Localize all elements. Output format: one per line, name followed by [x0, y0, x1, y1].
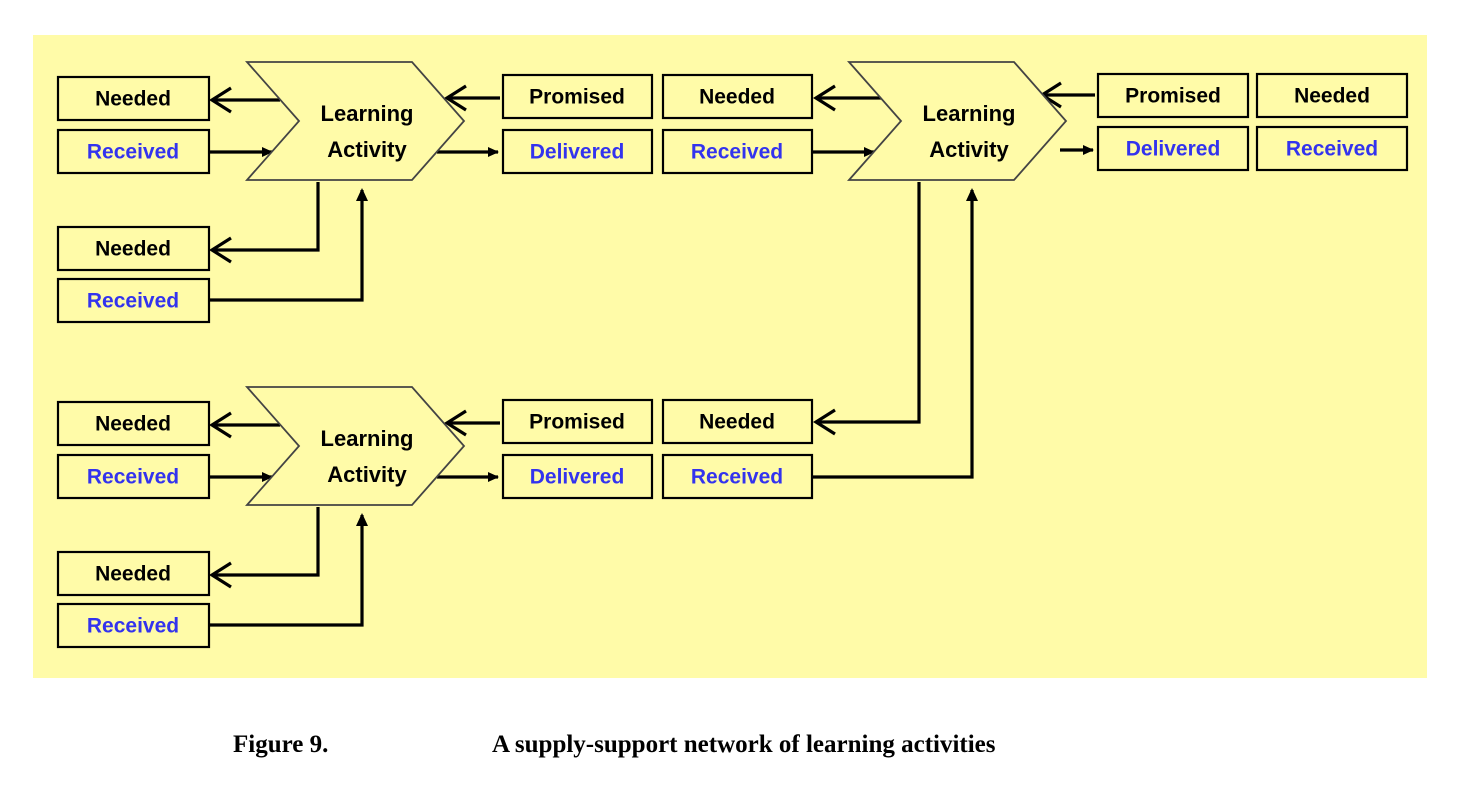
figure-caption-title: A supply-support network of learning act…	[492, 731, 996, 758]
state-box-delivered-2[interactable]: Delivered	[1098, 127, 1248, 170]
figure-container: Learning Activity Needed Received Needed…	[0, 0, 1458, 794]
state-box-needed-7[interactable]: Needed	[663, 400, 812, 443]
state-box-label: Delivered	[530, 466, 625, 489]
state-box-delivered-1[interactable]: Delivered	[503, 130, 652, 173]
learning-activity-label-line1: Learning	[321, 426, 414, 451]
state-box-label: Needed	[95, 563, 171, 586]
state-box-needed-5[interactable]: Needed	[58, 402, 209, 445]
state-box-received-6[interactable]: Received	[58, 604, 209, 647]
learning-activity-label-line1: Learning	[923, 101, 1016, 126]
state-box-label: Promised	[529, 86, 625, 109]
state-box-label: Delivered	[530, 141, 625, 164]
supply-support-network-diagram: Learning Activity Needed Received Needed…	[0, 0, 1458, 794]
learning-activity-label-line2: Activity	[327, 137, 407, 162]
state-box-label: Promised	[529, 411, 625, 434]
state-box-promised-1[interactable]: Promised	[503, 75, 652, 118]
state-box-needed-2[interactable]: Needed	[58, 227, 209, 270]
state-box-received-7[interactable]: Received	[663, 455, 812, 498]
state-box-label: Needed	[95, 238, 171, 261]
state-box-needed-6[interactable]: Needed	[58, 552, 209, 595]
learning-activity-label-line2: Activity	[929, 137, 1009, 162]
state-box-label: Received	[87, 141, 179, 164]
state-box-promised-3[interactable]: Promised	[503, 400, 652, 443]
state-box-label: Promised	[1125, 85, 1221, 108]
state-box-needed-3[interactable]: Needed	[663, 75, 812, 118]
state-box-received-5[interactable]: Received	[58, 455, 209, 498]
state-box-label: Received	[87, 615, 179, 638]
state-box-label: Received	[1286, 138, 1378, 161]
state-box-needed-4[interactable]: Needed	[1257, 74, 1407, 117]
state-box-promised-2[interactable]: Promised	[1098, 74, 1248, 117]
state-box-label: Needed	[95, 88, 171, 111]
state-box-label: Received	[691, 466, 783, 489]
state-box-delivered-3[interactable]: Delivered	[503, 455, 652, 498]
state-box-received-2[interactable]: Received	[58, 279, 209, 322]
learning-activity-label-line1: Learning	[321, 101, 414, 126]
state-box-received-1[interactable]: Received	[58, 130, 209, 173]
state-box-label: Needed	[1294, 85, 1370, 108]
state-box-label: Delivered	[1126, 138, 1221, 161]
state-box-received-3[interactable]: Received	[663, 130, 812, 173]
state-box-label: Needed	[95, 413, 171, 436]
state-box-needed-1[interactable]: Needed	[58, 77, 209, 120]
state-box-label: Received	[87, 290, 179, 313]
figure-caption: Figure 9. A supply-support network of le…	[233, 731, 996, 758]
figure-caption-number: Figure 9.	[233, 731, 328, 758]
state-box-label: Received	[691, 141, 783, 164]
state-box-label: Received	[87, 466, 179, 489]
state-box-received-4[interactable]: Received	[1257, 127, 1407, 170]
state-box-label: Needed	[699, 411, 775, 434]
state-box-label: Needed	[699, 86, 775, 109]
learning-activity-label-line2: Activity	[327, 462, 407, 487]
